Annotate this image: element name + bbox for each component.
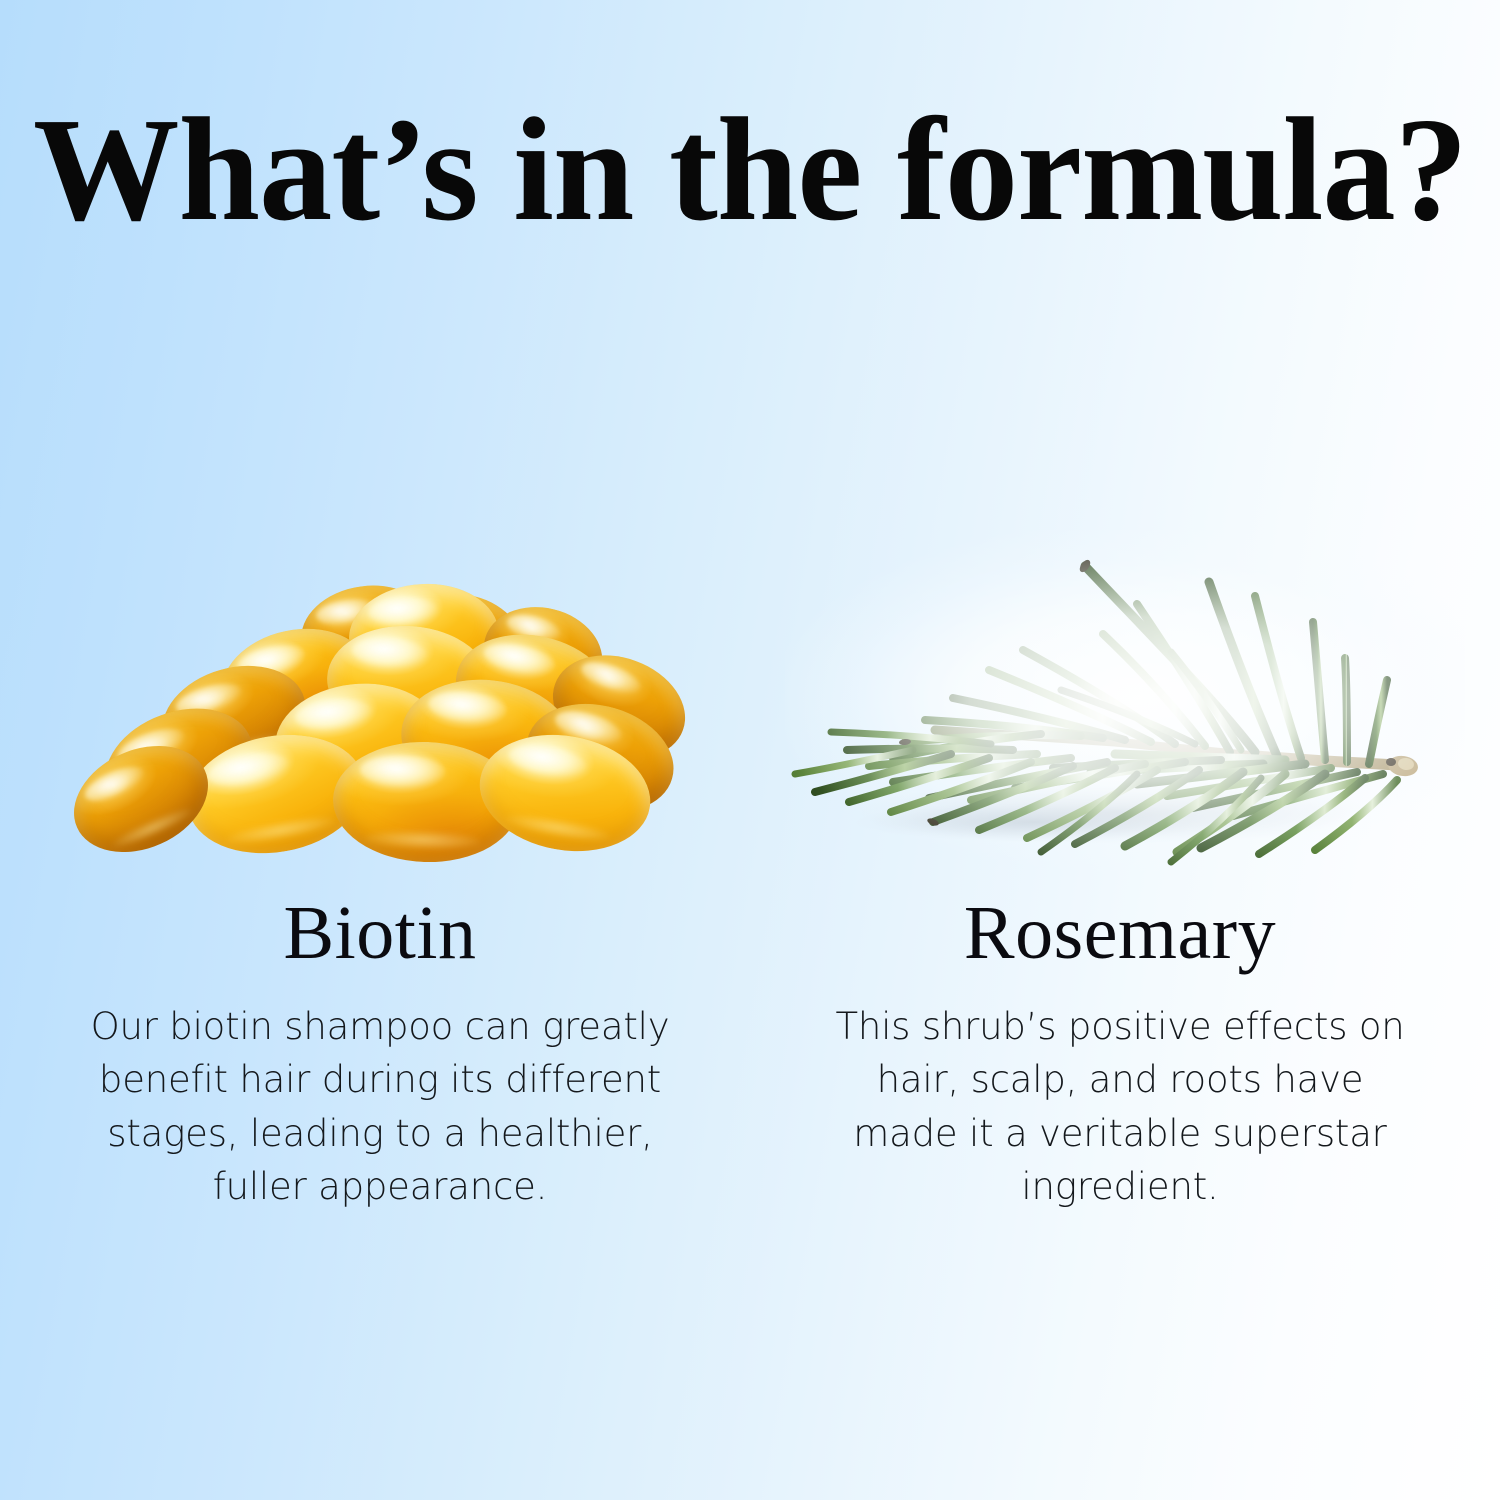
ingredient-name-rosemary: Rosemary — [775, 895, 1465, 971]
biotin-illustration — [35, 490, 725, 890]
photo-backdrop — [785, 530, 1465, 880]
softgel-capsules-icon — [65, 580, 705, 860]
ingredient-columns: Biotin Our biotin shampoo can greatly be… — [0, 0, 1500, 1500]
ingredient-description-rosemary: This shrub’s positive effects on hair, s… — [830, 1000, 1410, 1213]
rosemary-illustration — [775, 490, 1465, 890]
rosemary-sprig-icon — [785, 530, 1465, 880]
ingredient-description-biotin: Our biotin shampoo can greatly benefit h… — [90, 1000, 670, 1213]
formula-infographic: What’s in the formula? — [0, 0, 1500, 1500]
ingredient-card-rosemary: Rosemary This shrub’s positive effects o… — [775, 490, 1465, 1310]
ingredient-card-biotin: Biotin Our biotin shampoo can greatly be… — [35, 490, 725, 1310]
ingredient-name-biotin: Biotin — [35, 895, 725, 971]
